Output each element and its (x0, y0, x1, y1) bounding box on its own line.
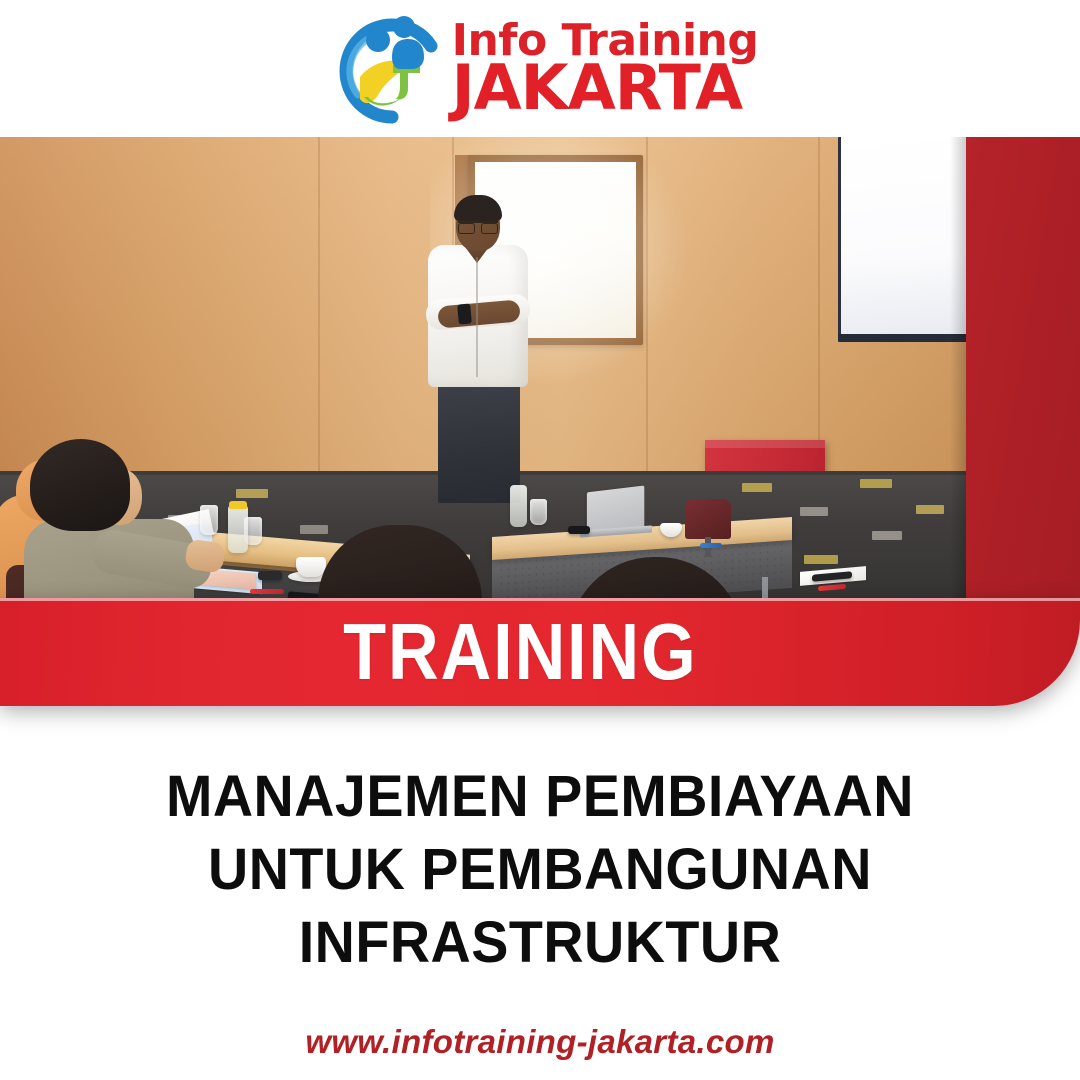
eyeglasses (258, 571, 282, 580)
banner-title: TRAINING (343, 612, 697, 692)
drinking-glass (200, 505, 218, 535)
water-bottle (228, 505, 248, 553)
brand-logo-text: Info Training JAKARTA (452, 19, 759, 119)
chair-backrest (685, 499, 731, 539)
info-training-jakarta-logo-icon (338, 13, 446, 125)
side-accent-panel (966, 137, 1080, 599)
projector-screen-surface (841, 137, 968, 335)
carpet-tile (800, 507, 828, 516)
poster-canvas: Info Training JAKARTA TRAINING MANAJEMEN… (0, 0, 1080, 1080)
bottle-cap (229, 501, 247, 509)
projector-screen-bottom-bar (838, 334, 968, 342)
website-url[interactable]: www.infotraining-jakarta.com (0, 1023, 1080, 1061)
projector-screen (838, 137, 968, 342)
red-wall-cabinet-top (705, 440, 825, 448)
participant-hand (184, 539, 226, 574)
red-pen (250, 589, 284, 594)
carpet-tile (742, 483, 772, 492)
carpet-tile (804, 555, 838, 564)
brand-logo[interactable]: Info Training JAKARTA (338, 13, 759, 125)
course-title-line-1: MANAJEMEN PEMBIAYAAN (22, 760, 1059, 833)
marker-pen (700, 543, 722, 548)
photo-background-wall (0, 137, 968, 599)
presenter-wristwatch (457, 303, 472, 324)
presenter-shirt-placket (476, 257, 478, 377)
course-title-line-3: INFRASTRUKTUR (22, 906, 1059, 979)
remote-control (568, 526, 590, 534)
coffee-cup (296, 557, 326, 577)
water-bottle (510, 485, 527, 527)
brand-name-line2: JAKARTA (452, 57, 743, 119)
presenter-trousers (438, 383, 520, 503)
header: Info Training JAKARTA (0, 0, 1080, 137)
training-banner: TRAINING (0, 598, 1080, 706)
carpet-tile (860, 479, 892, 488)
carpet-tile (300, 525, 328, 534)
course-title: MANAJEMEN PEMBIAYAAN UNTUK PEMBANGUNAN I… (0, 760, 1080, 979)
drinking-glass (530, 499, 547, 525)
training-photo (0, 137, 968, 599)
carpet-tile (236, 489, 268, 498)
participant-hair (30, 439, 130, 531)
table-leg (762, 577, 768, 599)
presenter-glasses (458, 221, 498, 230)
course-title-line-2: UNTUK PEMBANGUNAN (22, 833, 1059, 906)
carpet-tile (916, 505, 944, 514)
carpet-tile (872, 531, 902, 540)
